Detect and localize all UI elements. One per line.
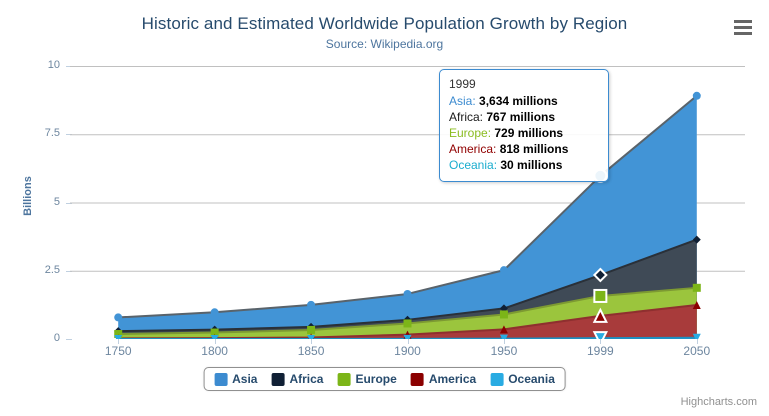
legend-swatch-icon bbox=[337, 373, 350, 386]
legend-item-america[interactable]: America bbox=[411, 372, 476, 386]
tooltip-rows: Asia: 3,634 millionsAfrica: 767 millions… bbox=[449, 93, 599, 173]
x-axis-tick-mark bbox=[600, 339, 601, 344]
tooltip-series-name: Oceania: bbox=[449, 158, 500, 172]
x-axis-tick-mark bbox=[504, 339, 505, 344]
legend-item-europe[interactable]: Europe bbox=[337, 372, 396, 386]
x-axis-tick-mark bbox=[311, 339, 312, 344]
tooltip-series-name: America: bbox=[449, 142, 500, 156]
point-marker-oceania-1999[interactable] bbox=[594, 332, 606, 339]
tooltip-series-value: 3,634 millions bbox=[479, 94, 558, 108]
legend-label: Africa bbox=[289, 372, 323, 386]
x-axis-tick-label: 1850 bbox=[281, 344, 341, 358]
y-axis-tick-label: 2.5 bbox=[14, 265, 60, 276]
point-marker-asia-1900[interactable] bbox=[404, 290, 412, 298]
y-axis-tick-mark bbox=[66, 339, 72, 340]
point-marker-asia-1750[interactable] bbox=[114, 313, 122, 321]
legend-label: Oceania bbox=[508, 372, 555, 386]
point-marker-asia-1850[interactable] bbox=[307, 301, 315, 309]
tooltip-series-name: Africa: bbox=[449, 110, 486, 124]
point-marker-asia-1800[interactable] bbox=[211, 308, 219, 316]
x-axis-tick-mark bbox=[697, 339, 698, 344]
x-axis-tick-label: 1800 bbox=[185, 344, 245, 358]
legend-swatch-icon bbox=[271, 373, 284, 386]
hamburger-bar-2 bbox=[734, 26, 752, 29]
x-axis-tick-label: 1950 bbox=[474, 344, 534, 358]
chart-legend[interactable]: AsiaAfricaEuropeAmericaOceania bbox=[203, 367, 566, 391]
plot-area bbox=[70, 66, 745, 339]
point-marker-europe-2050[interactable] bbox=[693, 284, 701, 292]
tooltip-series-name: Asia: bbox=[449, 94, 479, 108]
legend-label: America bbox=[429, 372, 476, 386]
legend-swatch-icon bbox=[411, 373, 424, 386]
point-marker-europe-1999[interactable] bbox=[594, 290, 606, 302]
hamburger-bar-3 bbox=[734, 32, 752, 35]
x-axis-tick-label: 1750 bbox=[88, 344, 148, 358]
y-axis: Billions 02.557.510 bbox=[14, 0, 60, 416]
tooltip-row-america: America: 818 millions bbox=[449, 141, 599, 157]
x-axis-tick-mark bbox=[118, 339, 119, 344]
tooltip-series-value: 729 millions bbox=[494, 126, 563, 140]
x-axis-tick-label: 2050 bbox=[667, 344, 727, 358]
x-axis-tick-mark bbox=[408, 339, 409, 344]
legend-item-asia[interactable]: Asia bbox=[214, 372, 257, 386]
y-axis-tick-label: 5 bbox=[14, 197, 60, 208]
highcharts-container: Historic and Estimated Worldwide Populat… bbox=[0, 0, 769, 416]
legend-label: Asia bbox=[232, 372, 257, 386]
tooltip-row-africa: Africa: 767 millions bbox=[449, 109, 599, 125]
point-marker-europe-1950[interactable] bbox=[500, 310, 508, 318]
chart-context-menu-icon[interactable] bbox=[731, 16, 755, 38]
credits-link[interactable]: Highcharts.com bbox=[681, 396, 757, 408]
x-axis-tick-label: 1999 bbox=[570, 344, 630, 358]
chart-tooltip: 1999 Asia: 3,634 millionsAfrica: 767 mil… bbox=[439, 69, 609, 182]
tooltip-row-oceania: Oceania: 30 millions bbox=[449, 157, 599, 173]
y-axis-tick-label: 7.5 bbox=[14, 128, 60, 139]
point-marker-europe-1900[interactable] bbox=[404, 319, 412, 327]
point-marker-asia-1950[interactable] bbox=[500, 266, 508, 274]
chart-subtitle: Source: Wikipedia.org bbox=[0, 37, 769, 51]
tooltip-series-value: 767 millions bbox=[486, 110, 555, 124]
x-axis-tick-mark bbox=[215, 339, 216, 344]
y-axis-tick-label: 10 bbox=[14, 60, 60, 71]
tooltip-series-name: Europe: bbox=[449, 126, 494, 140]
tooltip-series-value: 818 millions bbox=[500, 142, 569, 156]
x-axis-tick-label: 1900 bbox=[378, 344, 438, 358]
legend-item-africa[interactable]: Africa bbox=[271, 372, 323, 386]
legend-swatch-icon bbox=[490, 373, 503, 386]
tooltip-row-asia: Asia: 3,634 millions bbox=[449, 93, 599, 109]
legend-label: Europe bbox=[355, 372, 396, 386]
hamburger-bar-1 bbox=[734, 20, 752, 23]
legend-swatch-icon bbox=[214, 373, 227, 386]
tooltip-series-value: 30 millions bbox=[500, 158, 562, 172]
y-axis-tick-label: 0 bbox=[14, 333, 60, 344]
chart-title: Historic and Estimated Worldwide Populat… bbox=[0, 14, 769, 34]
tooltip-row-europe: Europe: 729 millions bbox=[449, 125, 599, 141]
point-marker-europe-1850[interactable] bbox=[307, 326, 315, 334]
point-marker-asia-2050[interactable] bbox=[693, 92, 701, 100]
chart-canvas bbox=[70, 66, 745, 339]
legend-item-oceania[interactable]: Oceania bbox=[490, 372, 555, 386]
tooltip-header: 1999 bbox=[449, 76, 599, 93]
